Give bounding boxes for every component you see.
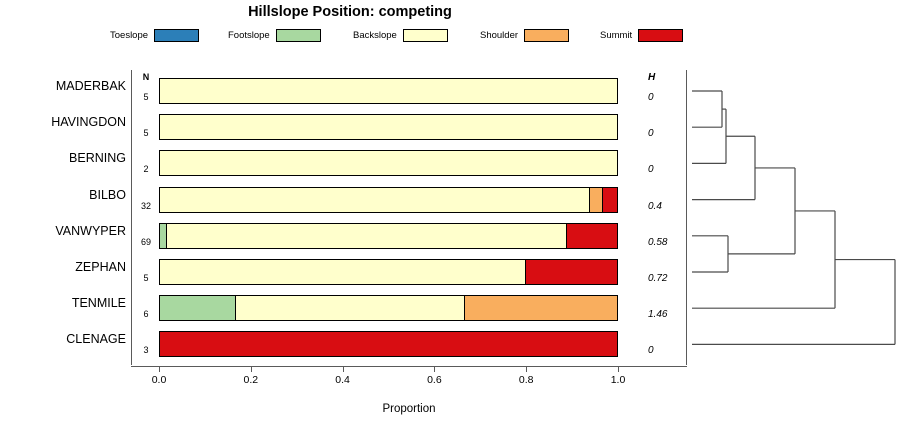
legend-swatch-toeslope [154, 29, 199, 42]
row-label-havingdon: HAVINGDON [0, 115, 126, 129]
row-h-bilbo: 0.4 [648, 201, 692, 212]
dendrogram [690, 62, 900, 372]
row-h-havingdon: 0 [648, 128, 692, 139]
row-n-berning: 2 [134, 164, 158, 174]
legend-item-shoulder: Shoulder [480, 26, 569, 44]
legend-item-toeslope: Toeslope [110, 26, 199, 44]
stacked-bar-havingdon [159, 114, 618, 140]
x-axis-title: Proportion [131, 403, 687, 415]
panel-left-border [131, 70, 132, 365]
x-tick-3 [434, 366, 435, 372]
legend-label-summit: Summit [600, 30, 632, 41]
stacked-bar-vanwyper [159, 223, 618, 249]
stacked-bar-berning [159, 150, 618, 176]
row-n-vanwyper: 69 [134, 237, 158, 247]
legend-swatch-shoulder [524, 29, 569, 42]
x-tick-0 [159, 366, 160, 372]
column-header-h: H [648, 72, 672, 83]
row-n-maderbak: 5 [134, 92, 158, 102]
bar-segment-summit [526, 260, 617, 284]
bar-segment-backslope [160, 188, 590, 212]
row-h-clenage: 0 [648, 345, 692, 356]
row-label-clenage: CLENAGE [0, 332, 126, 346]
column-header-n: N [134, 72, 158, 82]
bar-segment-backslope [160, 79, 617, 103]
legend: ToeslopeFootslopeBackslopeShoulderSummit [110, 26, 780, 44]
x-tick-label-2: 0.4 [335, 374, 350, 386]
legend-swatch-footslope [276, 29, 321, 42]
x-tick-label-0: 0.0 [152, 374, 167, 386]
x-tick-1 [251, 366, 252, 372]
row-label-zephan: ZEPHAN [0, 260, 126, 274]
bar-segment-backslope [160, 151, 617, 175]
row-h-zephan: 0.72 [648, 273, 692, 284]
legend-label-shoulder: Shoulder [480, 30, 518, 41]
row-h-tenmile: 1.46 [648, 309, 692, 320]
row-h-berning: 0 [648, 164, 692, 175]
stacked-bar-zephan [159, 259, 618, 285]
stacked-bar-maderbak [159, 78, 618, 104]
bar-segment-backslope [236, 296, 465, 320]
row-n-bilbo: 32 [134, 201, 158, 211]
bar-segment-summit [160, 332, 617, 356]
x-tick-label-5: 1.0 [611, 374, 626, 386]
legend-item-backslope: Backslope [353, 26, 448, 44]
bar-segment-backslope [160, 115, 617, 139]
row-label-bilbo: BILBO [0, 188, 126, 202]
row-n-zephan: 5 [134, 273, 158, 283]
x-tick-label-3: 0.6 [427, 374, 442, 386]
bar-segment-backslope [167, 224, 567, 248]
x-tick-5 [618, 366, 619, 372]
legend-label-backslope: Backslope [353, 30, 397, 41]
row-label-vanwyper: VANWYPER [0, 224, 126, 238]
row-h-maderbak: 0 [648, 92, 692, 103]
legend-label-toeslope: Toeslope [110, 30, 148, 41]
panel-right-border [686, 70, 687, 365]
bar-segment-shoulder [465, 296, 617, 320]
row-n-tenmile: 6 [134, 309, 158, 319]
x-tick-label-1: 0.2 [243, 374, 258, 386]
chart-canvas: Hillslope Position: competing ToeslopeFo… [0, 0, 900, 440]
legend-swatch-summit [638, 29, 683, 42]
row-label-tenmile: TENMILE [0, 296, 126, 310]
stacked-bar-tenmile [159, 295, 618, 321]
row-label-maderbak: MADERBAK [0, 79, 126, 93]
x-tick-2 [343, 366, 344, 372]
x-tick-label-4: 0.8 [519, 374, 534, 386]
bar-segment-summit [567, 224, 617, 248]
row-n-havingdon: 5 [134, 128, 158, 138]
bar-segment-shoulder [590, 188, 604, 212]
dendrogram-svg [690, 62, 900, 372]
legend-item-summit: Summit [600, 26, 683, 44]
row-h-vanwyper: 0.58 [648, 237, 692, 248]
row-label-berning: BERNING [0, 151, 126, 165]
legend-swatch-backslope [403, 29, 448, 42]
stacked-bar-clenage [159, 331, 618, 357]
legend-item-footslope: Footslope [228, 26, 321, 44]
bar-segment-backslope [160, 260, 526, 284]
row-n-clenage: 3 [134, 345, 158, 355]
stacked-bar-bilbo [159, 187, 618, 213]
bar-segment-footslope [160, 296, 236, 320]
x-tick-4 [526, 366, 527, 372]
bar-segment-footslope [160, 224, 167, 248]
bar-segment-summit [603, 188, 617, 212]
legend-label-footslope: Footslope [228, 30, 270, 41]
x-axis-line [131, 366, 687, 367]
chart-title: Hillslope Position: competing [0, 4, 700, 20]
